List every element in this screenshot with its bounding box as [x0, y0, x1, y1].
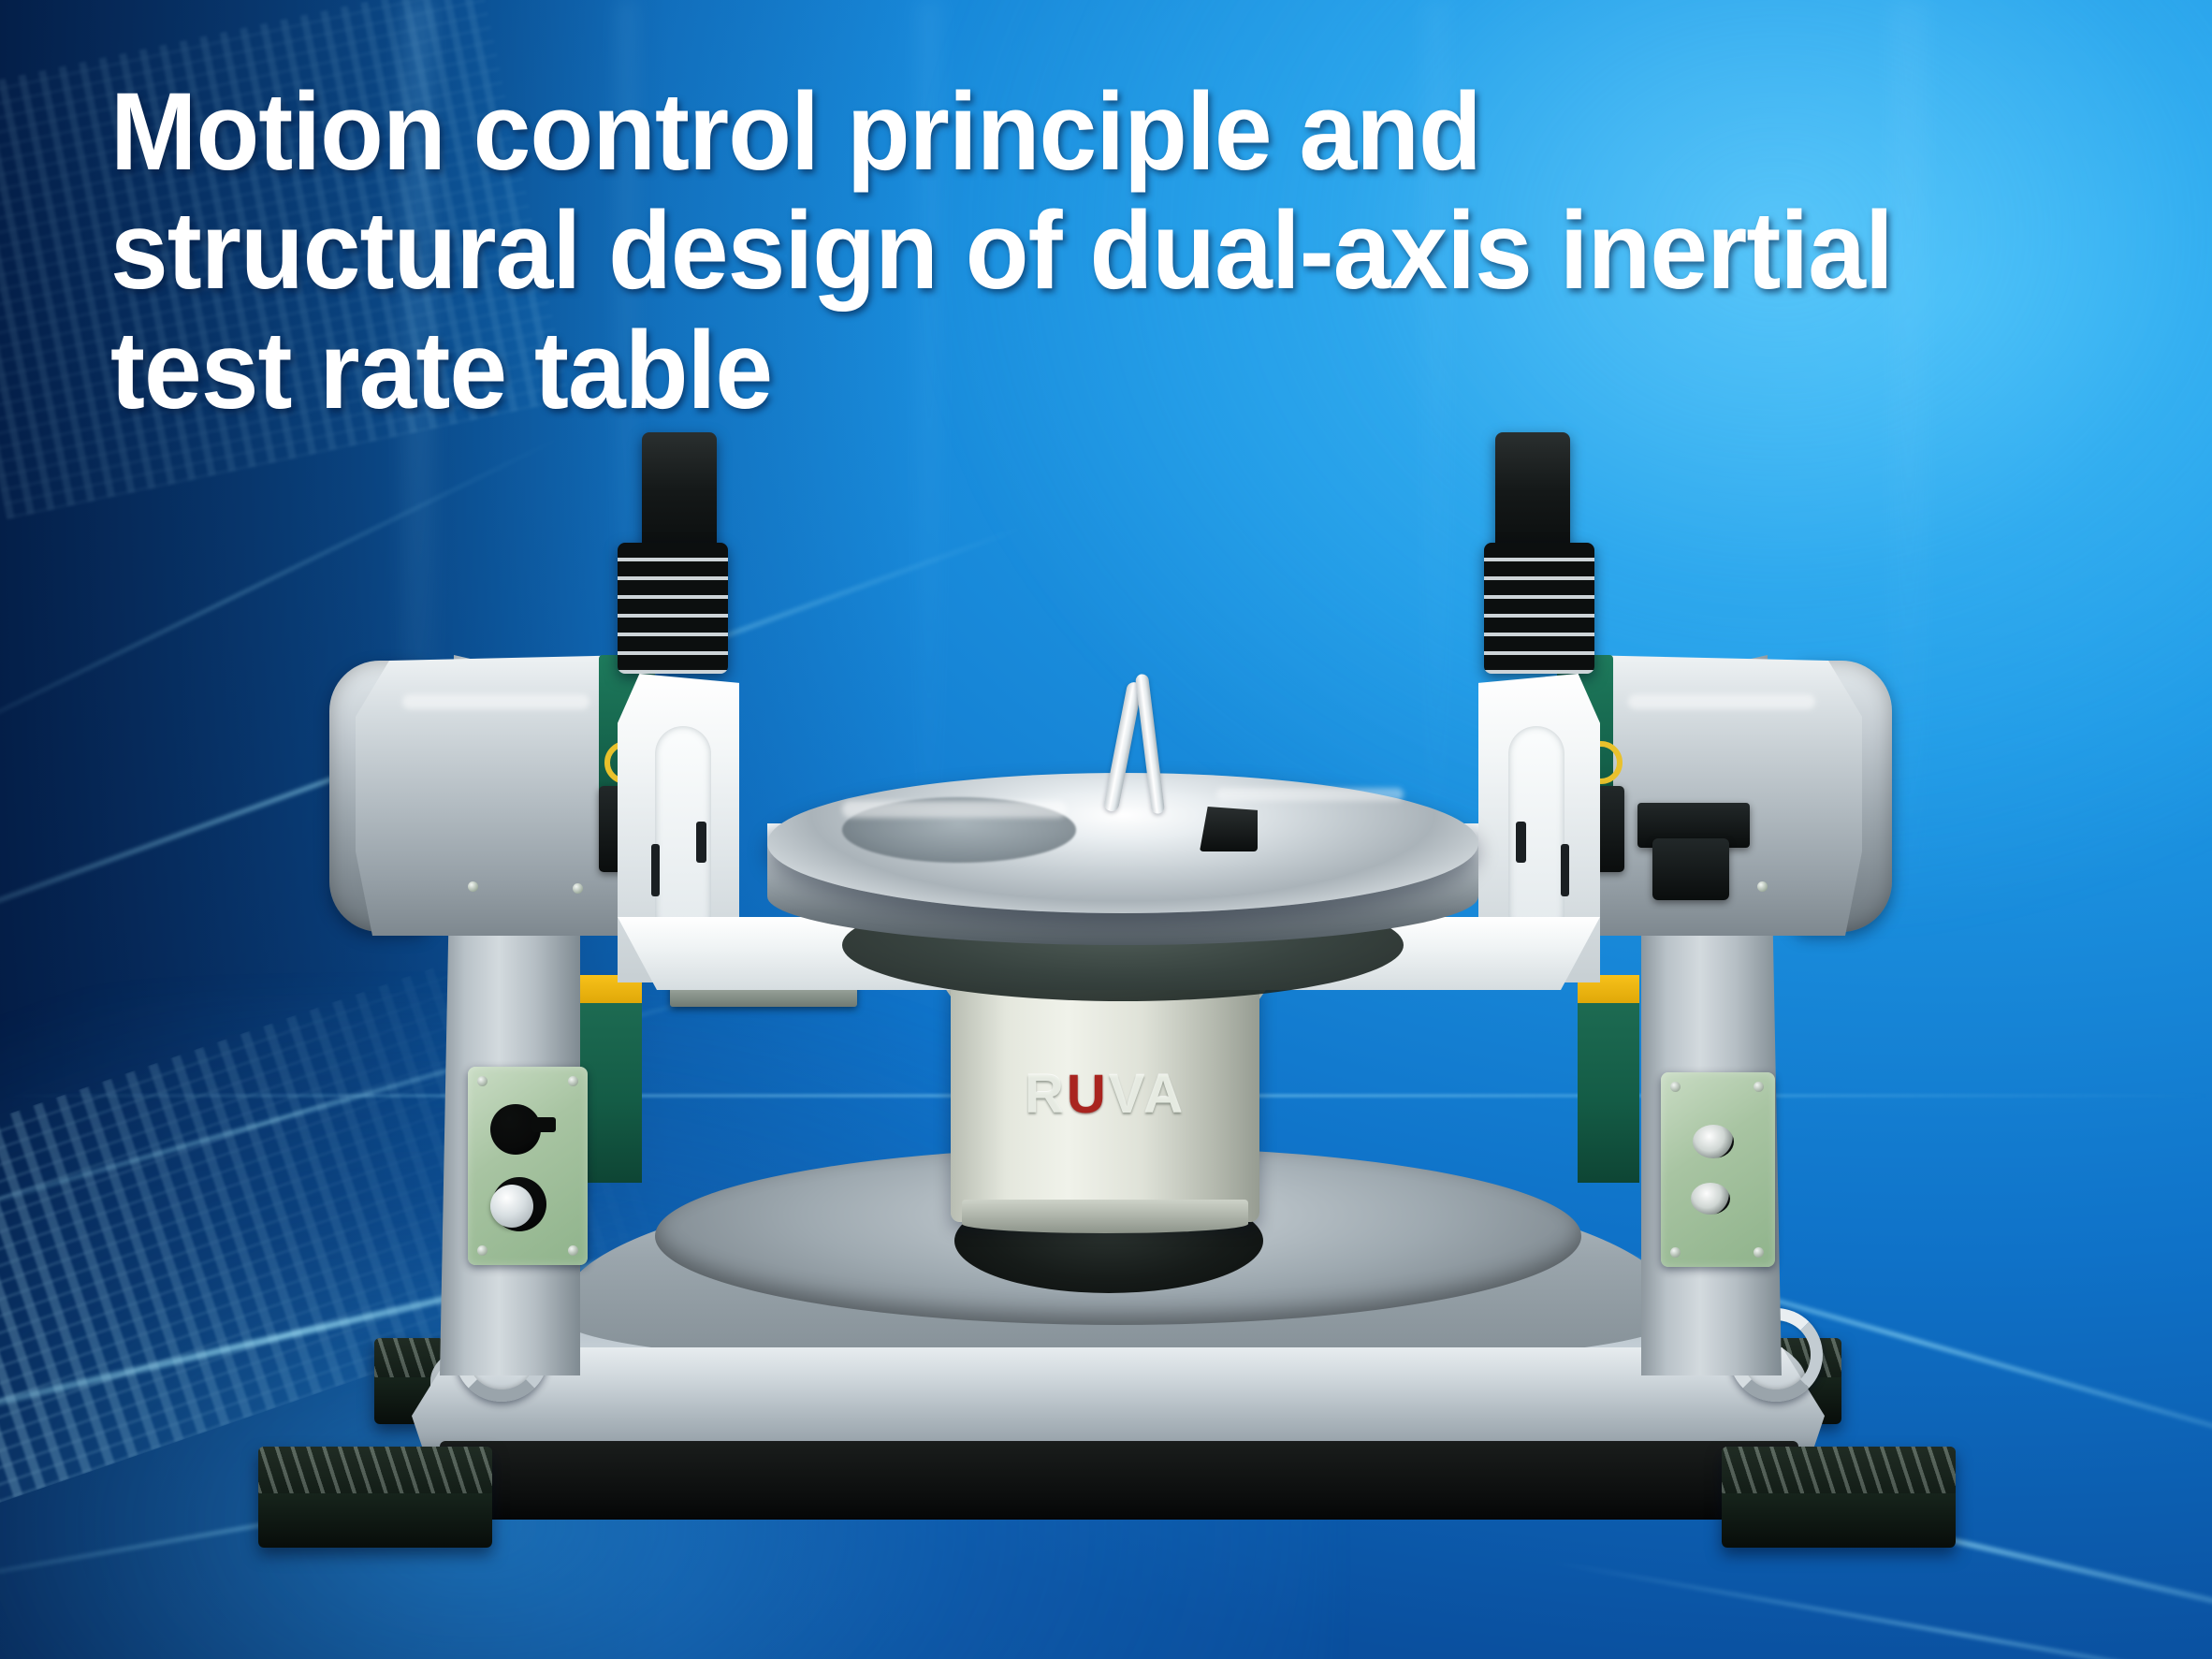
page-title: Motion control principle and structural …: [110, 73, 1922, 430]
slide-canvas: Motion control principle and structural …: [0, 0, 2212, 1659]
